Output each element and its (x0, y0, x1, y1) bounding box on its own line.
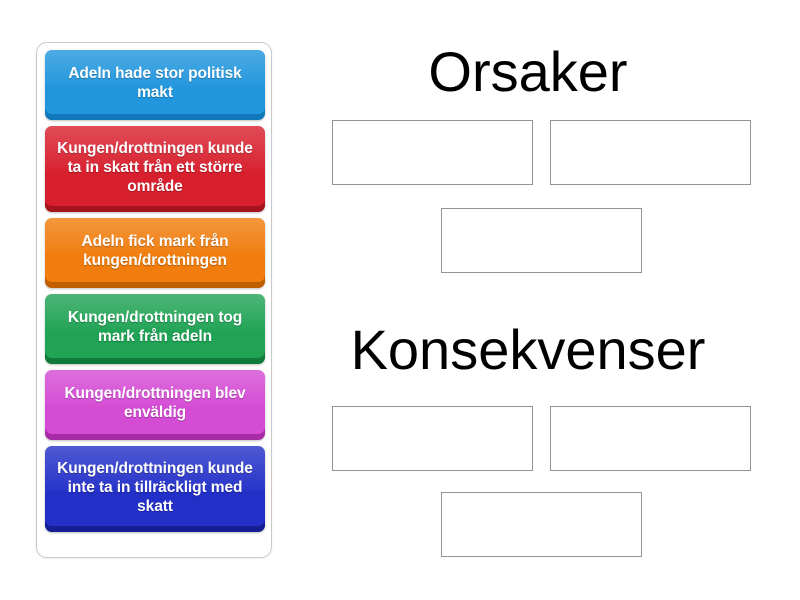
draggable-tile[interactable]: Kungen/drottningen kunde ta in skatt frå… (45, 126, 265, 212)
draggable-tile[interactable]: Adeln hade stor politisk makt (45, 50, 265, 120)
group-heading-konsekvenser: Konsekvenser (308, 322, 748, 378)
dropzone-konsekvenser-3[interactable] (441, 492, 642, 557)
draggable-tile[interactable]: Kungen/drottningen kunde inte ta in till… (45, 446, 265, 532)
draggable-tile-label: Adeln hade stor politisk makt (52, 64, 258, 102)
group-heading-orsaker: Orsaker (308, 44, 748, 100)
draggable-tile-label: Kungen/drottningen blev enväldig (52, 384, 258, 422)
draggable-tile-label: Kungen/drottningen tog mark från adeln (52, 308, 258, 346)
draggable-tile[interactable]: Kungen/drottningen blev enväldig (45, 370, 265, 440)
draggable-tile[interactable]: Adeln fick mark från kungen/drottningen (45, 218, 265, 288)
draggable-tile-label: Kungen/drottningen kunde ta in skatt frå… (52, 139, 258, 196)
draggable-tile[interactable]: Kungen/drottningen tog mark från adeln (45, 294, 265, 364)
dropzone-orsaker-1[interactable] (332, 120, 533, 185)
activity-stage: Adeln hade stor politisk makt Kungen/dro… (0, 0, 800, 600)
dropzone-orsaker-2[interactable] (550, 120, 751, 185)
dropzone-konsekvenser-1[interactable] (332, 406, 533, 471)
dropzone-orsaker-3[interactable] (441, 208, 642, 273)
draggable-tile-label: Kungen/drottningen kunde inte ta in till… (52, 459, 258, 516)
draggable-tile-label: Adeln fick mark från kungen/drottningen (52, 232, 258, 270)
dropzone-konsekvenser-2[interactable] (550, 406, 751, 471)
draggable-tiles-tray: Adeln hade stor politisk makt Kungen/dro… (36, 42, 272, 558)
